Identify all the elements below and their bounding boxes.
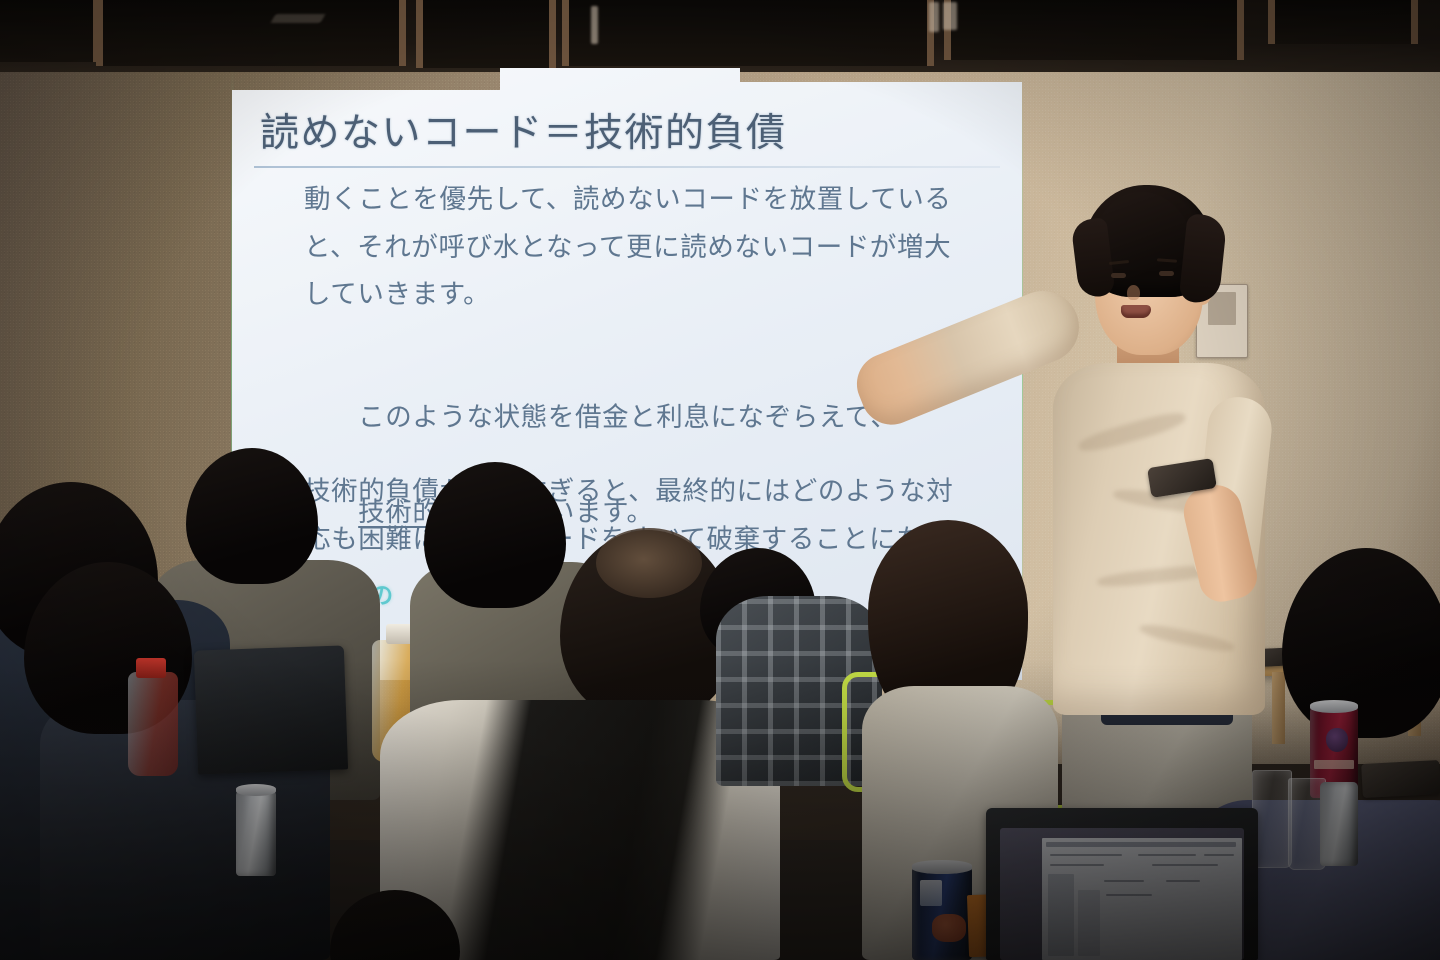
slide-paragraph-2-text: このような状態を借金と利息になぞらえて、: [358, 402, 897, 433]
window-5: [944, 0, 1244, 60]
can-silver: [236, 790, 276, 876]
audience-member-scalp: [596, 528, 702, 598]
can-horoyoi-label: [1314, 760, 1354, 769]
doc-panel: [1078, 890, 1100, 956]
window-3: [416, 0, 556, 68]
can-top: [1310, 700, 1358, 713]
presenter-hair-side-right: [1179, 213, 1228, 305]
window-1: [0, 0, 100, 62]
phone-on-table-right: [1361, 760, 1440, 798]
can-top: [912, 860, 972, 874]
presenter-mouth: [1121, 305, 1151, 318]
doc-text-line: [1106, 894, 1152, 896]
presenter-eye-left: [1111, 273, 1126, 278]
can-silver-right: [1320, 782, 1358, 866]
window-4: [562, 0, 934, 66]
doc-text-line: [1166, 880, 1200, 882]
can-hyoketsu-label-glyph: [920, 880, 942, 906]
can-horoyoi-grape-art: [1326, 728, 1348, 752]
laptop-document-window: [1042, 838, 1242, 960]
laptop-left: [194, 645, 348, 774]
doc-text-line: [1104, 880, 1144, 882]
can-top: [236, 784, 276, 796]
presenter-nose: [1127, 285, 1140, 300]
drinking-glass: [1252, 770, 1292, 868]
doc-text-line: [1050, 854, 1122, 856]
laptop-screen: [1000, 828, 1244, 960]
shirt-fold: [1139, 621, 1236, 655]
doc-text-line: [1050, 864, 1104, 866]
doc-sidebar: [1048, 874, 1074, 956]
doc-toolbar: [1046, 842, 1236, 847]
bottle-cola: [128, 672, 178, 776]
slide-title-underline: [254, 166, 1000, 168]
can-hyoketsu-fruit: [932, 914, 966, 942]
bottle-cap-red: [136, 658, 166, 678]
window-2: [96, 0, 406, 66]
window-6: [1268, 0, 1418, 44]
window-glint: [929, 2, 939, 32]
window-glint: [943, 2, 957, 30]
meetup-photo-scene: 読めないコード＝技術的負債 動くことを優先して、読めないコードを放置している と…: [0, 0, 1440, 960]
doc-text-line: [1152, 864, 1218, 866]
presenter-eye-right: [1159, 271, 1174, 276]
shirt-fold: [1077, 408, 1188, 456]
slide-title: 読めないコード＝技術的負債: [260, 102, 787, 158]
doc-text-line: [1138, 854, 1196, 856]
window-glint: [270, 14, 325, 23]
window-glint: [591, 6, 598, 44]
doc-text-line: [1204, 854, 1234, 856]
